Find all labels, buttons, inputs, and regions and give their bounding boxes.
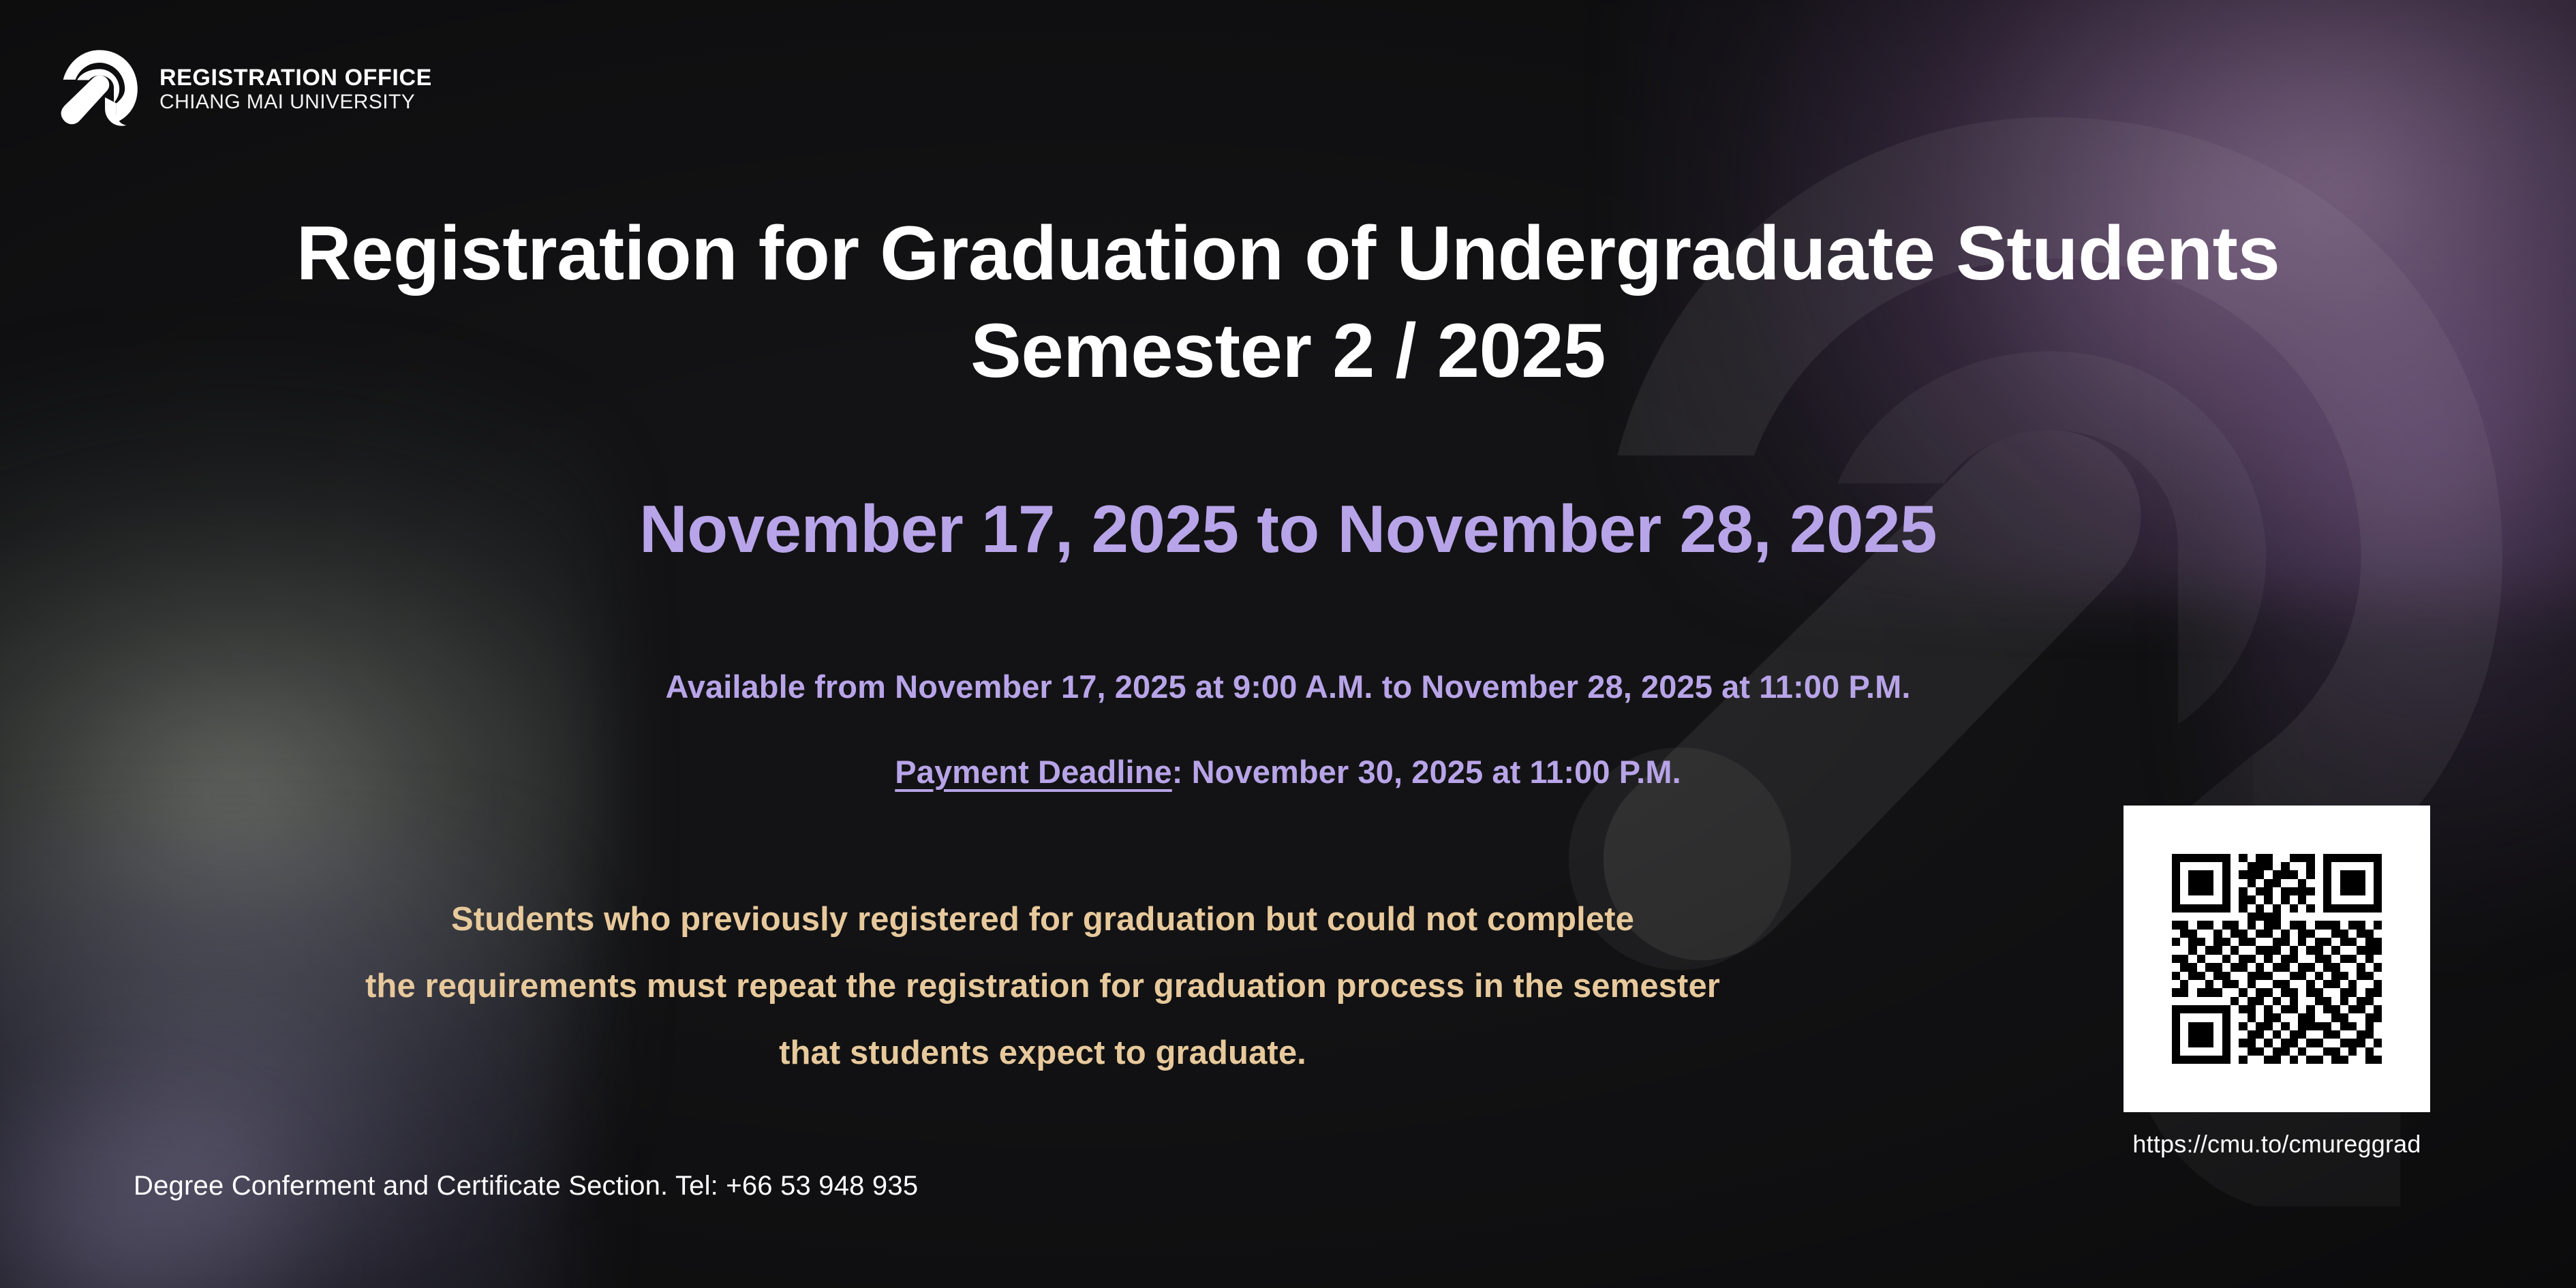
repeat-registration-note: Students who previously registered for g… — [0, 886, 2085, 1086]
page-title: Registration for Graduation of Undergrad… — [0, 204, 2576, 400]
qr-block[interactable]: https://cmu.to/cmureggrad — [2123, 806, 2430, 1159]
payment-deadline-text: Payment Deadline: November 30, 2025 at 1… — [0, 753, 2576, 791]
poster-canvas: REGISTRATION OFFICE CHIANG MAI UNIVERSIT… — [0, 0, 2576, 1288]
qr-card[interactable] — [2123, 806, 2430, 1112]
payment-deadline-label: Payment Deadline — [895, 754, 1171, 790]
poster-content: Registration for Graduation of Undergrad… — [0, 0, 2576, 1288]
title-line-1: Registration for Graduation of Undergrad… — [296, 211, 2280, 296]
payment-deadline-value: : November 30, 2025 at 11:00 P.M. — [1172, 754, 1681, 790]
qr-code-icon[interactable] — [2155, 837, 2399, 1081]
note-line-3: that students expect to graduate. — [0, 1019, 2085, 1086]
qr-url-label: https://cmu.to/cmureggrad — [2123, 1130, 2430, 1159]
note-line-2: the requirements must repeat the registr… — [0, 953, 2085, 1019]
availability-text: Available from November 17, 2025 at 9:00… — [0, 668, 2576, 706]
contact-footer: Degree Conferment and Certificate Sectio… — [134, 1171, 918, 1201]
date-range: November 17, 2025 to November 28, 2025 — [0, 489, 2576, 570]
title-line-2: Semester 2 / 2025 — [970, 308, 1606, 393]
note-line-1: Students who previously registered for g… — [0, 886, 2085, 953]
